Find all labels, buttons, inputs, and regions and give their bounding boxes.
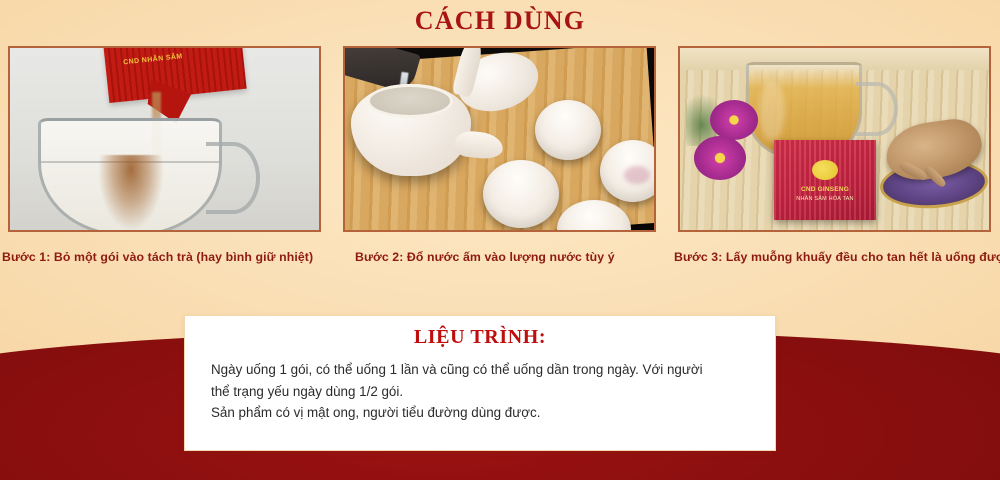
regimen-card-body: Ngày uống 1 gói, có thể uống 1 lần và cũ… xyxy=(211,359,749,424)
page-root: CÁCH DÙNG Bước 1: Bỏ một gói vào tách tr… xyxy=(0,0,1000,480)
regimen-line-1: Ngày uống 1 gói, có thể uống 1 lần và cũ… xyxy=(211,359,749,381)
tea-bowl-icon xyxy=(483,160,559,228)
dissolving-powder-icon xyxy=(99,155,163,229)
sachet-brand-label: CND GINSENG xyxy=(774,186,876,193)
step-1-photo xyxy=(8,46,321,232)
step-3: CND GINSENG NHÂN SÂM HÒA TAN Bước 3: Lấy… xyxy=(678,46,991,264)
purple-flower-icon xyxy=(710,100,758,140)
step-1-caption: Bước 1: Bỏ một gói vào tách trà (hay bìn… xyxy=(2,250,321,264)
step-3-caption: Bước 3: Lấy muỗng khuấy đều cho tan hết … xyxy=(674,250,991,264)
purple-flower-icon xyxy=(694,136,746,180)
tea-bowl-icon xyxy=(535,100,601,160)
regimen-card-title: LIỆU TRÌNH: xyxy=(211,326,749,349)
teapot-mouth-icon xyxy=(367,84,453,118)
regimen-line-3: Sản phẩm có vị mật ong, người tiểu đường… xyxy=(211,402,749,424)
regimen-card: LIỆU TRÌNH: Ngày uống 1 gói, có thể uống… xyxy=(184,315,776,451)
steps-row: Bước 1: Bỏ một gói vào tách trà (hay bìn… xyxy=(8,46,992,264)
sachet-logo-icon xyxy=(812,160,838,180)
step-2: Bước 2: Đổ nước ấm vào lượng nước tùy ý xyxy=(343,46,656,264)
sachet-subtitle-label: NHÂN SÂM HÒA TAN xyxy=(774,196,876,202)
step-1: Bước 1: Bỏ một gói vào tách trà (hay bìn… xyxy=(8,46,321,264)
cup-handle-icon xyxy=(856,82,898,136)
regimen-line-2: thể trạng yếu ngày dùng 1/2 gói. xyxy=(211,381,749,403)
glass-cup-icon xyxy=(38,118,222,232)
step-3-photo: CND GINSENG NHÂN SÂM HÒA TAN xyxy=(678,46,991,232)
cup-handle-icon xyxy=(206,142,260,214)
ginseng-sachet-icon: CND GINSENG NHÂN SÂM HÒA TAN xyxy=(774,140,876,220)
page-title: CÁCH DÙNG xyxy=(0,6,1000,36)
step-2-caption: Bước 2: Đổ nước ấm vào lượng nước tùy ý xyxy=(355,250,656,264)
step-2-photo xyxy=(343,46,656,232)
